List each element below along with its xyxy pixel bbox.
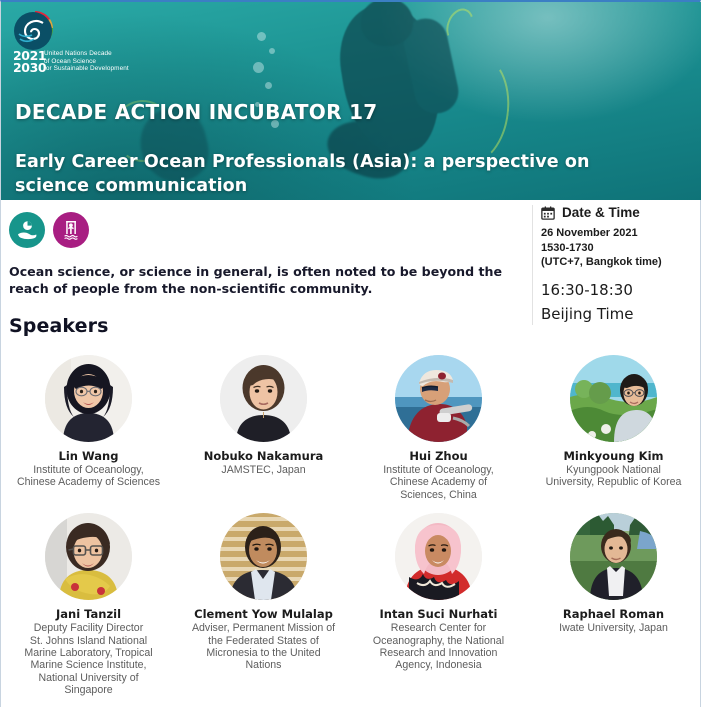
avatar — [220, 513, 307, 600]
avatar — [395, 355, 482, 442]
ocean-decade-wave-logo — [11, 10, 63, 50]
avatar — [395, 513, 482, 600]
logo-text: United Nations Decade of Ocean Science f… — [44, 50, 129, 73]
speaker-affiliation: Kyungpook National University, Republic … — [546, 464, 682, 489]
date-time-heading: Date & Time — [562, 205, 640, 220]
speaker-name: Jani Tanzil — [56, 608, 121, 621]
sdg-14-life-below-water-icon — [53, 212, 89, 248]
speaker-affiliation: Deputy Facility Director St. Johns Islan… — [24, 622, 152, 696]
speaker-card[interactable]: Nobuko Nakamura JAMSTEC, Japan — [176, 355, 351, 501]
speaker-card[interactable]: Jani Tanzil Deputy Facility Director St.… — [1, 513, 176, 696]
speaker-name: Minkyoung Kim — [563, 450, 663, 463]
avatar — [45, 355, 132, 442]
speaker-affiliation: Iwate University, Japan — [559, 622, 668, 634]
portrait-raphael-roman — [570, 513, 657, 600]
ocean-decade-hand-data-icon — [9, 212, 45, 248]
speaker-name: Raphael Roman — [563, 608, 664, 621]
speaker-card[interactable]: Minkyoung Kim Kyungpook National Univers… — [526, 355, 701, 501]
speakers-row-1: Lin Wang Institute of Oceanology, Chines… — [1, 355, 701, 501]
portrait-nobuko-nakamura — [220, 355, 307, 442]
local-timezone-value: Beijing Time — [541, 303, 700, 325]
speaker-card[interactable]: Intan Suci Nurhati Research Center for O… — [351, 513, 526, 696]
speaker-name: Nobuko Nakamura — [204, 450, 324, 463]
avatar — [45, 513, 132, 600]
speakers-heading: Speakers — [9, 315, 521, 337]
portrait-clement-yow-mulalap — [220, 513, 307, 600]
bubbles-decoration — [251, 32, 291, 152]
speaker-affiliation: Research Center for Oceanography, the Na… — [373, 622, 504, 672]
sdg-icon-row — [1, 200, 521, 248]
timezone-value: (UTC+7, Bangkok time) — [541, 255, 700, 270]
speaker-card[interactable]: Lin Wang Institute of Oceanology, Chines… — [1, 355, 176, 501]
left-column: Ocean science, or science in general, is… — [1, 200, 521, 337]
portrait-hui-zhou — [395, 355, 482, 442]
speaker-name: Intan Suci Nurhati — [379, 608, 497, 621]
date-value: 26 November 2021 — [541, 226, 700, 241]
avatar — [570, 513, 657, 600]
calendar-icon — [541, 206, 555, 220]
local-time-value: 16:30-18:30 — [541, 279, 700, 301]
date-time-heading-row: Date & Time — [541, 205, 700, 220]
speaker-affiliation: JAMSTEC, Japan — [221, 464, 305, 476]
time-range-value: 1530-1730 — [541, 241, 700, 256]
speaker-card[interactable]: Hui Zhou Institute of Oceanology, Chines… — [351, 355, 526, 501]
speaker-name: Clement Yow Mulalap — [194, 608, 333, 621]
portrait-intan-suci-nurhati — [395, 513, 482, 600]
speakers-row-2: Jani Tanzil Deputy Facility Director St.… — [1, 513, 701, 696]
speaker-affiliation: Institute of Oceanology, Chinese Academy… — [383, 464, 494, 501]
portrait-minkyoung-kim — [570, 355, 657, 442]
speaker-affiliation: Adviser, Permanent Mission of the Federa… — [192, 622, 335, 672]
logo-years: 2021 2030 — [13, 50, 46, 73]
un-ocean-decade-logo: 2021 2030 United Nations Decade of Ocean… — [11, 10, 151, 74]
event-banner: 2021 2030 United Nations Decade of Ocean… — [1, 2, 701, 200]
date-time-panel: Date & Time 26 November 2021 1530-1730 (… — [532, 205, 700, 325]
banner-title: Early Career Ocean Professionals (Asia):… — [15, 150, 635, 198]
speaker-name: Lin Wang — [59, 450, 119, 463]
speakers-grid: Lin Wang Institute of Oceanology, Chines… — [1, 355, 701, 697]
lead-description: Ocean science, or science in general, is… — [9, 264, 509, 297]
speaker-name: Hui Zhou — [409, 450, 467, 463]
speaker-card[interactable]: Raphael Roman Iwate University, Japan — [526, 513, 701, 696]
speaker-affiliation: Institute of Oceanology, Chinese Academy… — [17, 464, 160, 489]
avatar — [570, 355, 657, 442]
speaker-card[interactable]: Clement Yow Mulalap Adviser, Permanent M… — [176, 513, 351, 696]
portrait-jani-tanzil — [45, 513, 132, 600]
portrait-lin-wang — [45, 355, 132, 442]
banner-kicker: DECADE ACTION INCUBATOR 17 — [15, 100, 378, 124]
avatar — [220, 355, 307, 442]
